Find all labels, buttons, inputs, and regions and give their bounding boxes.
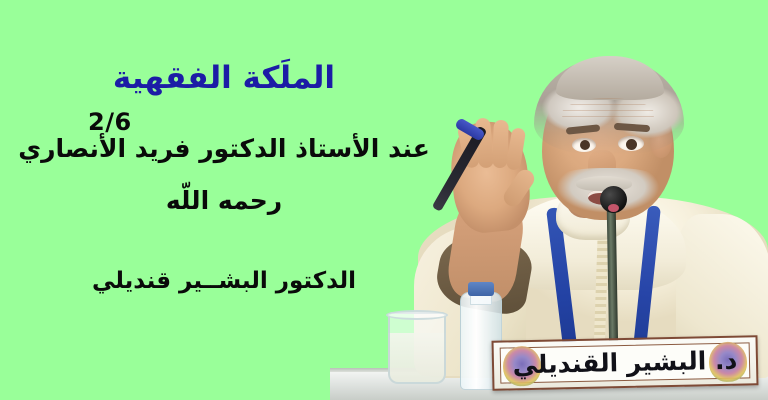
blessing-line: رحمه اللّه [0,186,448,215]
speaker-name: الدكتور البشــير قنديلي [0,268,448,294]
slide-canvas: د. البشير القنديلي الملَكة الفقهية 2/6 ع… [0,0,768,400]
subtitle-line: عند الأستاذ الدكتور فريد الأنصاري [0,135,448,163]
page-title: الملَكة الفقهية [0,62,448,95]
title-text-block: الملَكة الفقهية 2/6 عند الأستاذ الدكتور … [0,0,768,400]
part-counter: 2/6 [88,108,132,136]
